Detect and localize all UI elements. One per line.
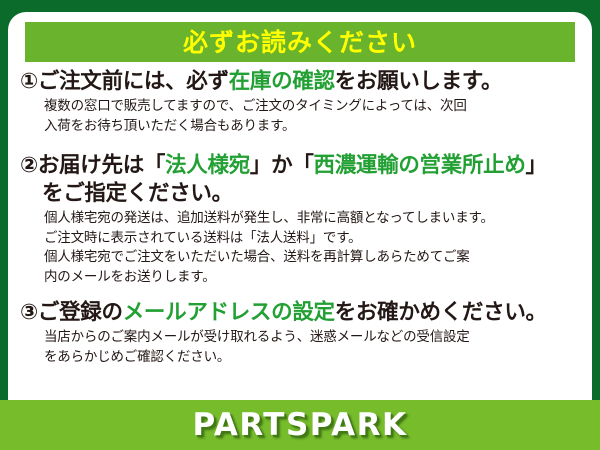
heading-segment-7: 」 xyxy=(526,153,547,178)
heading-segment-2: をお確かめください。 xyxy=(335,300,547,325)
body-line-0: 当店からのご案内メールが受け取れるよう、迷惑メールなどの受信設定 xyxy=(44,328,578,348)
spacer xyxy=(20,138,578,152)
heading-segment-1: 在庫の確認 xyxy=(229,69,335,94)
notice-item-1-heading: ①ご注文前には、必ず在庫の確認をお願いします。 xyxy=(20,68,578,96)
notice-item-2-heading: ②お届け先は「法人様宛」か「西濃運輸の営業所止め」 xyxy=(20,152,578,180)
heading-segment-0: ③ご登録の xyxy=(20,300,123,325)
notice-item-2: ②お届け先は「法人様宛」か「西濃運輸の営業所止め」 をご指定ください。 個人様宅… xyxy=(20,152,578,287)
notice-item-3-body: 当店からのご案内メールが受け取れるよう、迷惑メールなどの受信設定をあらかじめご確… xyxy=(20,328,578,367)
notice-frame: 必ずお読みください ①ご注文前には、必ず在庫の確認をお願いします。 複数の窓口で… xyxy=(0,0,600,450)
body-line-0: 複数の窓口で販売してますので、ご注文のタイミングによっては、次回 xyxy=(44,97,578,117)
heading-segment-0: ②お届け先は xyxy=(20,153,144,178)
heading-segment-0: ①ご注文前には、必ず xyxy=(20,69,229,94)
notice-list: ①ご注文前には、必ず在庫の確認をお願いします。 複数の窓口で販売してますので、ご… xyxy=(8,68,592,369)
body-line-1: ご注文時に表示されている送料は「法人送料」です。 xyxy=(44,229,578,249)
notice-card: 必ずお読みください ①ご注文前には、必ず在庫の確認をお願いします。 複数の窓口で… xyxy=(8,12,592,450)
notice-item-3: ③ご登録のメールアドレスの設定をお確かめください。 当店からのご案内メールが受け… xyxy=(20,299,578,367)
heading-segment-3: 」 xyxy=(250,153,271,178)
header-title: 必ずお読みください xyxy=(183,30,417,55)
header-banner: 必ずお読みください xyxy=(25,22,575,62)
body-line-0: 個人様宅宛の発送は、追加送料が発生し、非常に高額となってしまいます。 xyxy=(44,209,578,229)
spacer xyxy=(20,289,578,299)
footer-banner: PARTSPARK xyxy=(0,400,600,450)
body-line-2: 個人様宅宛でご注文をいただいた場合、送料を再計算しあらためてご案 xyxy=(44,248,578,268)
heading-segment-1: 「 xyxy=(144,153,165,178)
notice-item-1-body: 複数の窓口で販売してますので、ご注文のタイミングによっては、次回入荷をお待ち頂い… xyxy=(20,97,578,136)
notice-item-3-heading: ③ご登録のメールアドレスの設定をお確かめください。 xyxy=(20,299,578,327)
heading-segment-2: 法人様宛 xyxy=(165,153,250,178)
body-line-1: 入荷をお待ち頂いただく場合もあります。 xyxy=(44,117,578,137)
partspark-logo: PARTSPARK xyxy=(192,410,407,441)
heading-segment-4: か xyxy=(271,153,292,178)
body-line-3: 内のメールをお送りします。 xyxy=(44,268,578,288)
heading-segment-6: 西濃運輸の営業所止め xyxy=(314,153,526,178)
notice-item-2-heading-line2: をご指定ください。 xyxy=(20,180,578,208)
notice-item-2-body: 個人様宅宛の発送は、追加送料が発生し、非常に高額となってしまいます。ご注文時に表… xyxy=(20,209,578,287)
heading-segment-5: 「 xyxy=(292,153,313,178)
body-line-1: をあらかじめご確認ください。 xyxy=(44,348,578,368)
heading-segment-1: メールアドレスの設定 xyxy=(123,300,335,325)
heading-segment-2: をお願いします。 xyxy=(335,69,502,94)
notice-item-1: ①ご注文前には、必ず在庫の確認をお願いします。 複数の窓口で販売してますので、ご… xyxy=(20,68,578,136)
